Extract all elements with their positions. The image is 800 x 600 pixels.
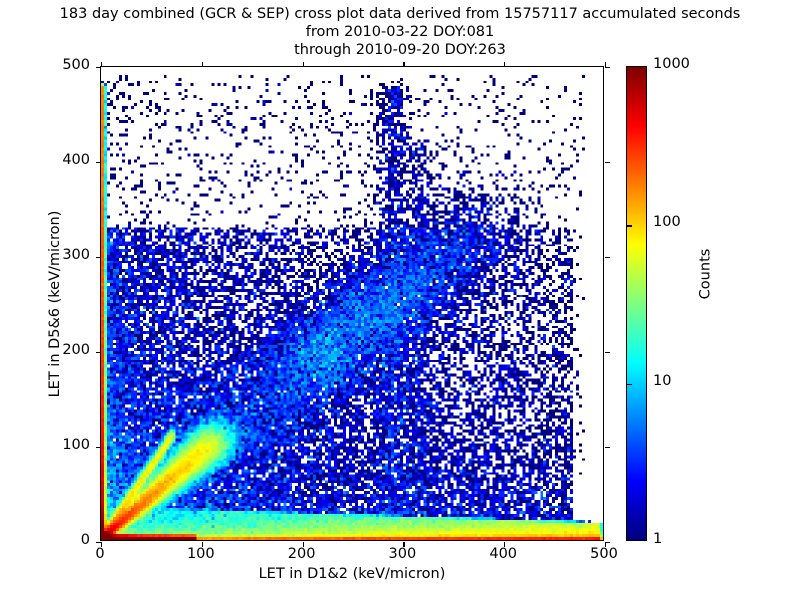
colorbar-tick-mark xyxy=(627,384,632,385)
y-tick-mark xyxy=(96,67,101,68)
y-tick-mark-right xyxy=(605,162,610,163)
y-axis-title: LET in D5&6 (keV/micron) xyxy=(47,139,63,469)
x-tick-label: 300 xyxy=(367,546,437,562)
figure-canvas: 183 day combined (GCR & SEP) cross plot … xyxy=(0,0,800,600)
x-tick-mark-top xyxy=(504,62,505,67)
x-tick-label: 400 xyxy=(468,546,538,562)
heatmap-scatter-layer xyxy=(101,67,603,540)
y-tick-label: 500 xyxy=(30,57,90,73)
colorbar xyxy=(626,66,647,541)
y-tick-mark-right xyxy=(605,257,610,258)
figure-title-line-2: from 2010-03-22 DOY:081 xyxy=(0,24,800,41)
y-tick-mark-right xyxy=(605,447,610,448)
colorbar-tick-label: 10 xyxy=(653,373,671,389)
x-tick-mark-top xyxy=(403,62,404,67)
x-tick-mark-top xyxy=(202,62,203,67)
y-tick-mark xyxy=(96,447,101,448)
colorbar-tick-label: 100 xyxy=(653,214,681,230)
colorbar-title: Counts xyxy=(698,187,714,362)
figure-title-line-1: 183 day combined (GCR & SEP) cross plot … xyxy=(0,6,800,23)
colorbar-gradient xyxy=(627,67,646,540)
x-axis-title: LET in D1&2 (keV/micron) xyxy=(100,566,604,582)
x-tick-label: 200 xyxy=(267,546,337,562)
colorbar-tick-label: 1 xyxy=(653,531,662,547)
y-tick-mark-right xyxy=(605,67,610,68)
x-tick-label: 500 xyxy=(569,546,639,562)
plot-axes-area xyxy=(100,66,604,541)
x-tick-label: 100 xyxy=(166,546,236,562)
x-tick-label: 0 xyxy=(65,546,135,562)
y-tick-mark xyxy=(96,257,101,258)
y-tick-mark xyxy=(96,162,101,163)
colorbar-tick-label: 1000 xyxy=(653,56,690,72)
colorbar-tick-mark xyxy=(627,225,632,226)
x-tick-mark-top xyxy=(303,62,304,67)
y-tick-mark xyxy=(96,352,101,353)
y-tick-mark xyxy=(96,542,101,543)
x-tick-mark-top xyxy=(101,62,102,67)
y-tick-mark-right xyxy=(605,542,610,543)
y-tick-mark-right xyxy=(605,352,610,353)
y-tick-label: 0 xyxy=(30,532,90,548)
